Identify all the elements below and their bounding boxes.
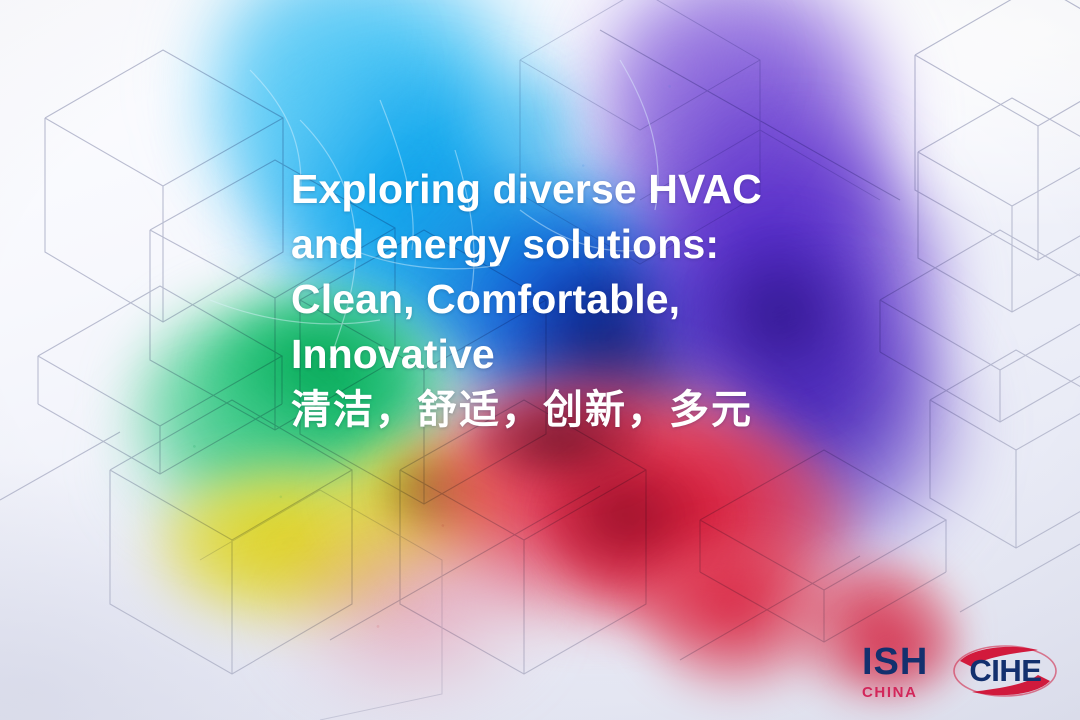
headline-line-chinese: 清洁，舒适，创新，多元	[291, 382, 931, 438]
headline-line-3: Clean, Comfortable,	[291, 272, 931, 327]
ish-logo-subtitle: CHINA	[862, 685, 918, 700]
headline-line-1: Exploring diverse HVAC	[291, 162, 931, 217]
cihe-logo-wordmark: CIHE	[969, 653, 1041, 689]
headline-line-4: Innovative	[291, 327, 931, 382]
ish-logo-wordmark: ISH	[862, 643, 928, 681]
ink-blob-red-pale	[280, 520, 540, 700]
logo-lockup: ISH CHINA CIHE	[862, 641, 1064, 701]
cihe-logo: CIHE	[946, 641, 1064, 701]
ish-china-logo: ISH CHINA	[862, 643, 928, 700]
poster-headline: Exploring diverse HVAC and energy soluti…	[291, 162, 931, 438]
headline-line-2: and energy solutions:	[291, 217, 931, 272]
poster-canvas: Exploring diverse HVAC and energy soluti…	[0, 0, 1080, 720]
